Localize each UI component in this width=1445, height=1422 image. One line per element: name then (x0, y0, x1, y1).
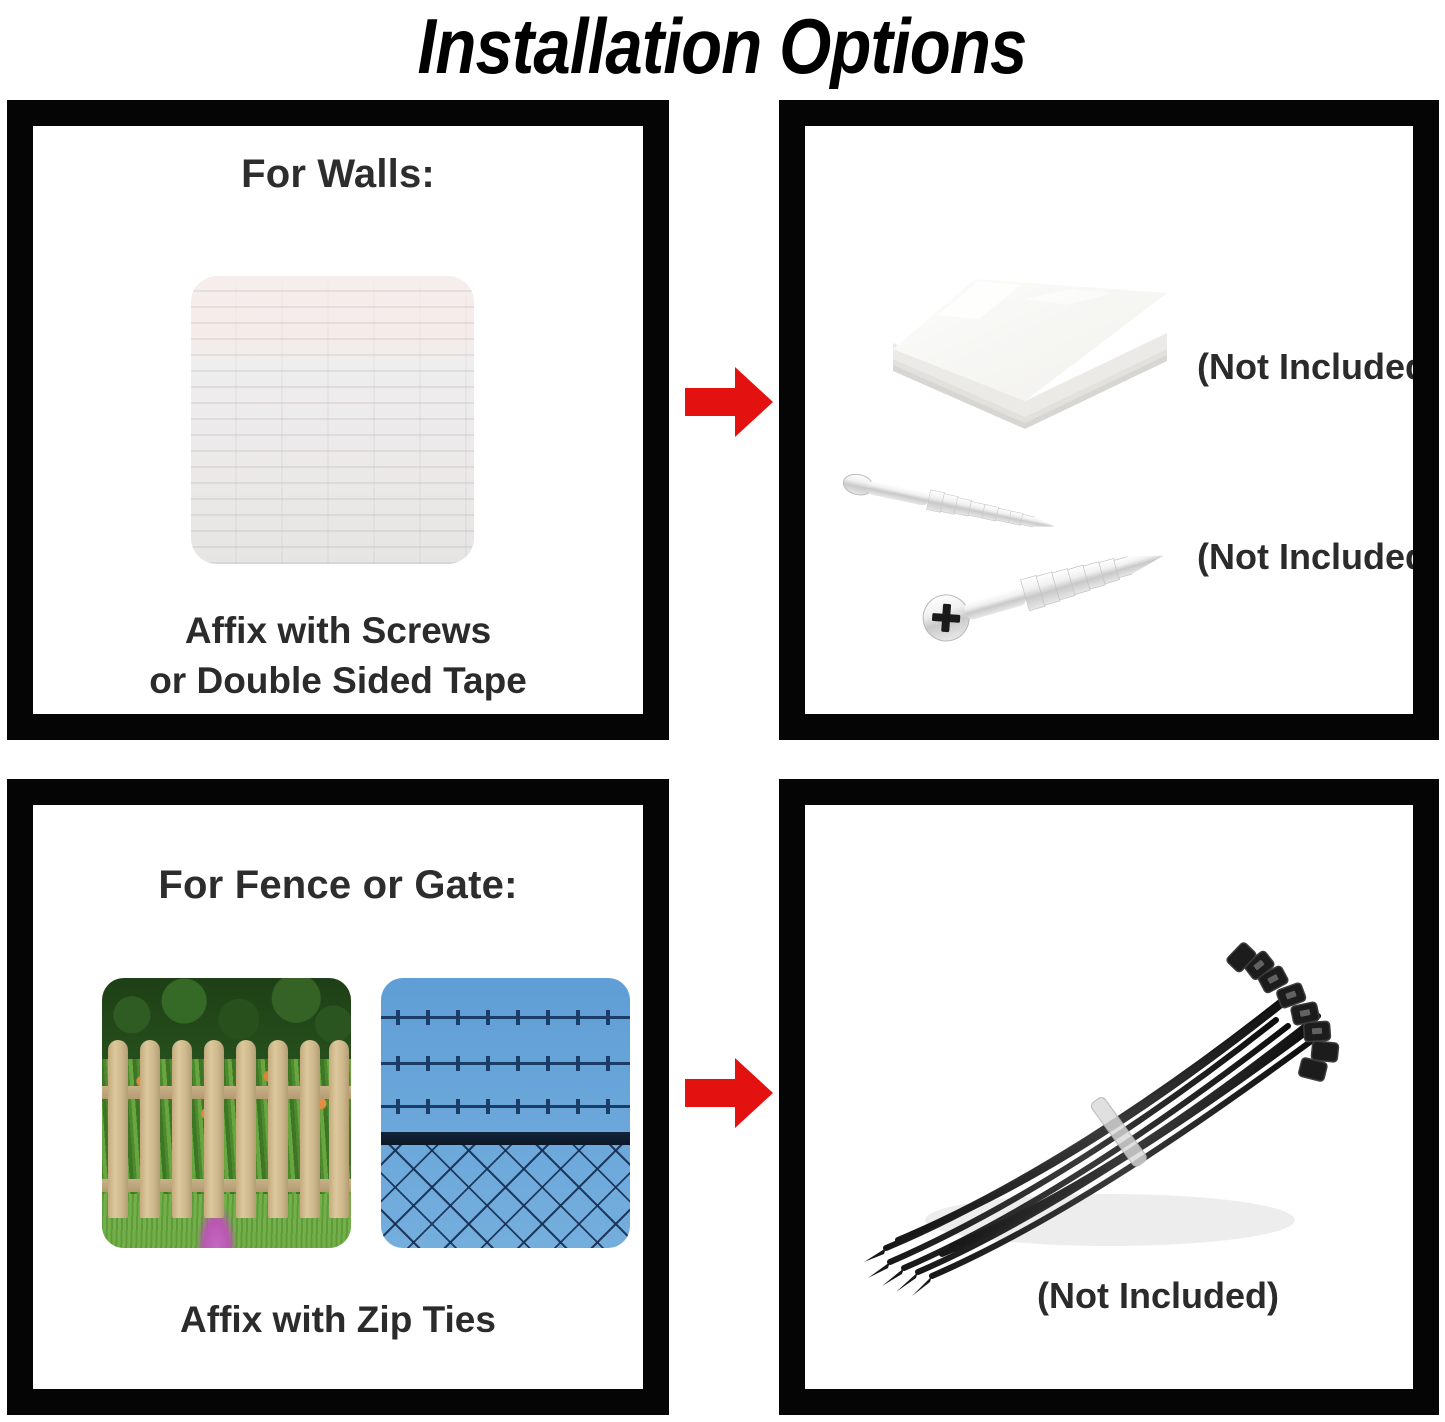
chain-link-mesh (381, 1145, 630, 1248)
zip-ties-icon (860, 910, 1360, 1300)
chain-link-barbed-wire-fence-photo (381, 978, 630, 1248)
picket (236, 1040, 256, 1218)
screws-icon (837, 456, 1217, 656)
panel-fence-hardware: (Not Included) (779, 779, 1439, 1415)
panel-wall-hardware: (Not Included) (779, 100, 1439, 740)
tape-stack-icon (875, 241, 1175, 456)
for-fence-caption: Affix with Zip Ties (33, 1295, 643, 1345)
double-sided-tape-stack-photo (875, 241, 1175, 456)
panel-wall-hardware-content: (Not Included) (805, 126, 1413, 714)
page-title: Installation Options (418, 6, 1027, 86)
zip-ties-not-included-label: (Not Included) (1037, 1275, 1279, 1317)
for-fence-heading: For Fence or Gate: (33, 863, 643, 908)
silver-wood-screws-photo (837, 456, 1217, 656)
barbed-wire-strand (381, 1105, 630, 1108)
arrow-right-icon (683, 1054, 775, 1132)
picket (140, 1040, 160, 1218)
brick-joints (191, 276, 474, 564)
red-right-arrow-top (683, 363, 775, 441)
black-zip-ties-bundle-photo (860, 910, 1360, 1300)
tape-not-included-label: (Not Included) (1197, 346, 1413, 388)
for-walls-caption-line2: or Double Sided Tape (33, 656, 643, 706)
fence-top-rail (381, 1132, 630, 1145)
barbed-wire-strand (381, 1016, 630, 1019)
arrow-right-icon (683, 363, 775, 441)
panel-for-fence-content: For Fence or Gate: (33, 805, 643, 1389)
picket (300, 1040, 320, 1218)
for-walls-heading: For Walls: (33, 152, 643, 197)
for-walls-caption-line1: Affix with Screws (33, 606, 643, 656)
wooden-picket-fence-photo (102, 978, 351, 1248)
picket (329, 1040, 349, 1218)
barbed-wire-strand (381, 1062, 630, 1065)
screws-not-included-label: (Not Included) (1197, 536, 1413, 578)
picket (268, 1040, 288, 1218)
picket (204, 1040, 224, 1218)
panel-for-fence-or-gate: For Fence or Gate: (7, 779, 669, 1415)
picket (172, 1040, 192, 1218)
panel-fence-hardware-content: (Not Included) (805, 805, 1413, 1389)
white-brick-wall-photo (191, 276, 474, 564)
title-bar: Installation Options (0, 0, 1445, 92)
red-right-arrow-bottom (683, 1054, 775, 1132)
picket-slats (102, 1040, 351, 1218)
picket (108, 1040, 128, 1218)
panel-for-walls-content: For Walls: Affix with Screws or Double S… (33, 126, 643, 714)
panel-for-walls: For Walls: Affix with Screws or Double S… (7, 100, 669, 740)
